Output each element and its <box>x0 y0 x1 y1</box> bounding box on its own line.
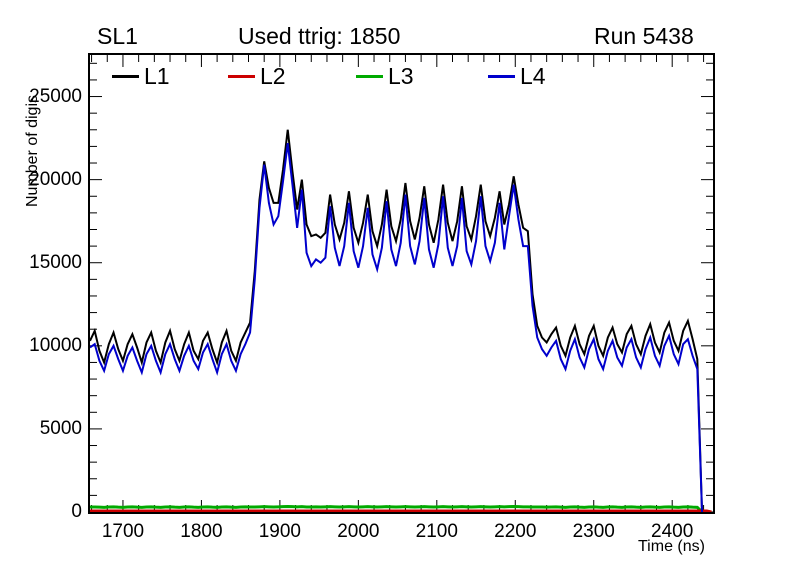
x-tick-label: 2200 <box>494 521 536 543</box>
ttrig-title: Used ttrig: 1850 <box>238 25 400 48</box>
y-tick-label: 25000 <box>29 86 82 108</box>
series-line-l1 <box>90 130 702 512</box>
legend-swatch-l1-icon <box>112 75 139 78</box>
legend-swatch-l3-icon <box>356 75 383 78</box>
y-tick-label: 10000 <box>29 335 82 357</box>
x-tick-label: 1800 <box>180 521 222 543</box>
x-tick-label: 2100 <box>416 521 458 543</box>
x-tick-label: 2000 <box>337 521 379 543</box>
legend-label: L1 <box>144 65 170 88</box>
x-tick-label: 2400 <box>651 521 693 543</box>
y-tick-label: 20000 <box>29 169 82 191</box>
y-tick-label: 0 <box>71 501 82 523</box>
legend-entry-l2[interactable]: L2 <box>228 63 286 89</box>
run-label: Run 5438 <box>594 25 694 48</box>
x-tick-label: 1900 <box>259 521 301 543</box>
legend-label: L3 <box>388 65 414 88</box>
legend-swatch-l2-icon <box>228 75 255 78</box>
y-tick-label: 15000 <box>29 252 82 274</box>
legend-label: L4 <box>520 65 546 88</box>
plot-frame <box>88 53 715 514</box>
legend: L1L2L3L4 <box>88 61 648 91</box>
legend-swatch-l4-icon <box>488 75 515 78</box>
y-tick-label: 5000 <box>40 418 82 440</box>
y-tick-label-group: 0500010000150002000025000 <box>0 0 82 572</box>
legend-label: L2 <box>260 65 286 88</box>
legend-entry-l3[interactable]: L3 <box>356 63 414 89</box>
legend-entry-l1[interactable]: L1 <box>112 63 170 89</box>
legend-entry-l4[interactable]: L4 <box>488 63 546 89</box>
x-tick-label: 1700 <box>102 521 144 543</box>
series-line-l4 <box>90 143 702 512</box>
superlayer-label: SL1 <box>97 25 138 48</box>
x-tick-label: 2300 <box>573 521 615 543</box>
series-line-l2 <box>90 511 711 512</box>
plot-series-svg <box>90 55 713 512</box>
plot-canvas: SL1 Used ttrig: 1850 Run 5438 Number of … <box>0 0 796 572</box>
